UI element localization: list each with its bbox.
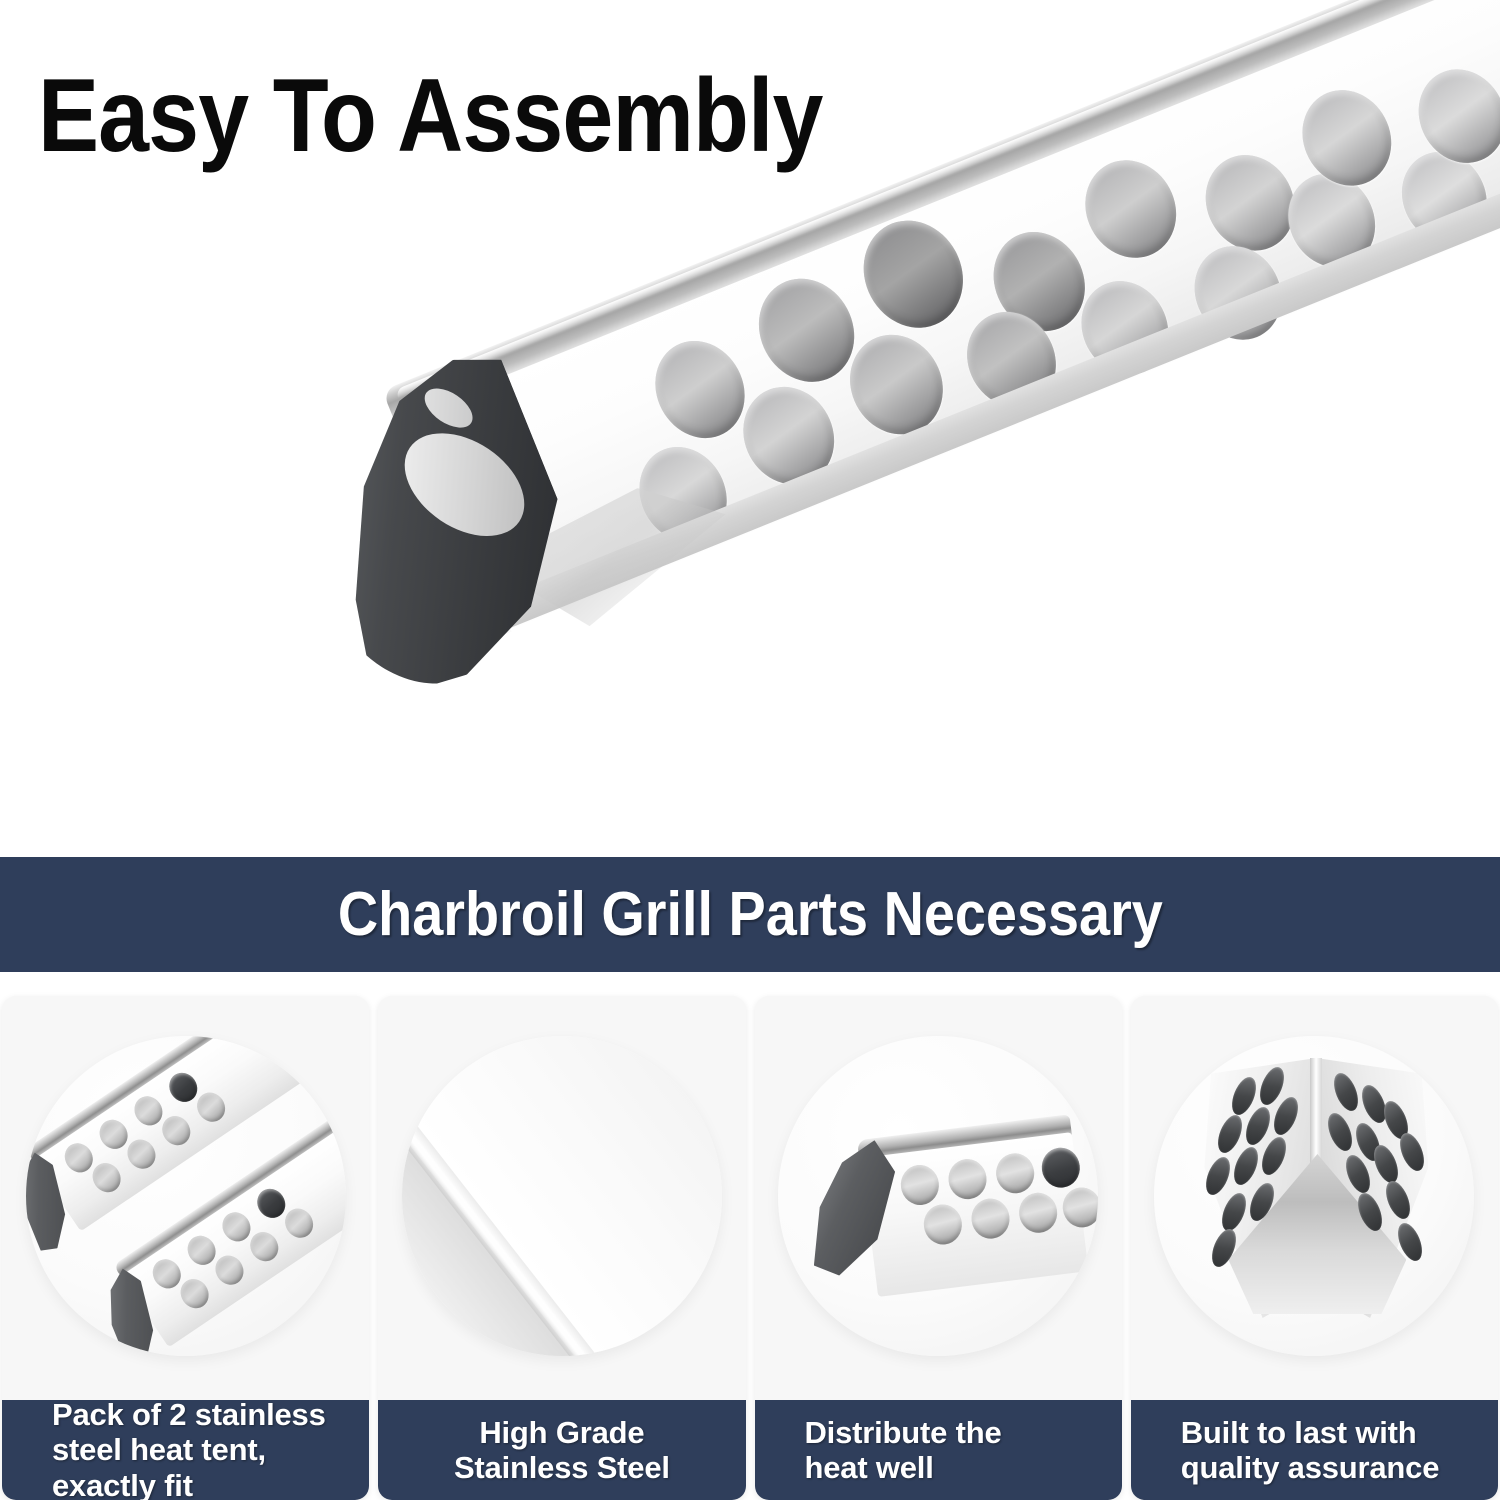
hero-section: Easy To Assembly bbox=[0, 0, 1500, 857]
caption-line: Built to last with bbox=[1181, 1415, 1478, 1450]
heat-tent-v-profile-illustration bbox=[1204, 1058, 1428, 1318]
headline-banner: Charbroil Grill Parts Necessary bbox=[0, 857, 1500, 972]
caption-line: Stainless Steel bbox=[454, 1450, 670, 1485]
product-infographic: Easy To Assembly Charbroil Gril bbox=[0, 0, 1500, 1500]
caption-line: Distribute the bbox=[805, 1415, 1102, 1450]
stainless-steel-crease-closeup-photo bbox=[378, 996, 745, 1400]
perforation-hole bbox=[1068, 144, 1193, 274]
caption-high-grade: High Grade Stainless Steel bbox=[378, 1400, 745, 1500]
caption-line: heat well bbox=[805, 1450, 1102, 1485]
two-heat-tents-photo bbox=[2, 996, 369, 1400]
feature-card-built-to-last[interactable]: Built to last with quality assurance bbox=[1131, 996, 1498, 1500]
feature-card-strip: Pack of 2 stainless steel heat tent, exa… bbox=[0, 996, 1500, 1500]
caption-line: steel heat tent, bbox=[52, 1432, 349, 1467]
v-spine bbox=[1310, 1058, 1322, 1170]
photo-circle-mask bbox=[1154, 1036, 1474, 1356]
caption-line: quality assurance bbox=[1181, 1450, 1478, 1485]
feature-card-distribute-heat[interactable]: Distribute the heat well bbox=[755, 996, 1122, 1500]
feature-card-high-grade[interactable]: High Grade Stainless Steel bbox=[378, 996, 745, 1500]
caption-distribute-heat: Distribute the heat well bbox=[755, 1400, 1122, 1500]
steel-crease-illustration bbox=[402, 1036, 722, 1356]
photo-circle-mask bbox=[26, 1036, 346, 1356]
hero-product-photo bbox=[340, 70, 1500, 830]
photo-circle-mask bbox=[402, 1036, 722, 1356]
heat-tent-v-profile-photo bbox=[1131, 996, 1498, 1400]
caption-line: Pack of 2 stainless bbox=[52, 1397, 349, 1432]
photo-circle-mask bbox=[778, 1036, 1098, 1356]
single-heat-tent-illustration bbox=[802, 1098, 1091, 1319]
feature-card-pack-of-2[interactable]: Pack of 2 stainless steel heat tent, exa… bbox=[2, 996, 369, 1500]
caption-line: High Grade bbox=[479, 1415, 644, 1450]
caption-line: exactly fit bbox=[52, 1468, 349, 1500]
single-heat-tent-photo bbox=[755, 996, 1122, 1400]
heat-tent-illustration bbox=[268, 0, 1500, 700]
caption-pack-of-2: Pack of 2 stainless steel heat tent, exa… bbox=[2, 1400, 369, 1500]
caption-built-to-last: Built to last with quality assurance bbox=[1131, 1400, 1498, 1500]
banner-title: Charbroil Grill Parts Necessary bbox=[338, 879, 1163, 950]
